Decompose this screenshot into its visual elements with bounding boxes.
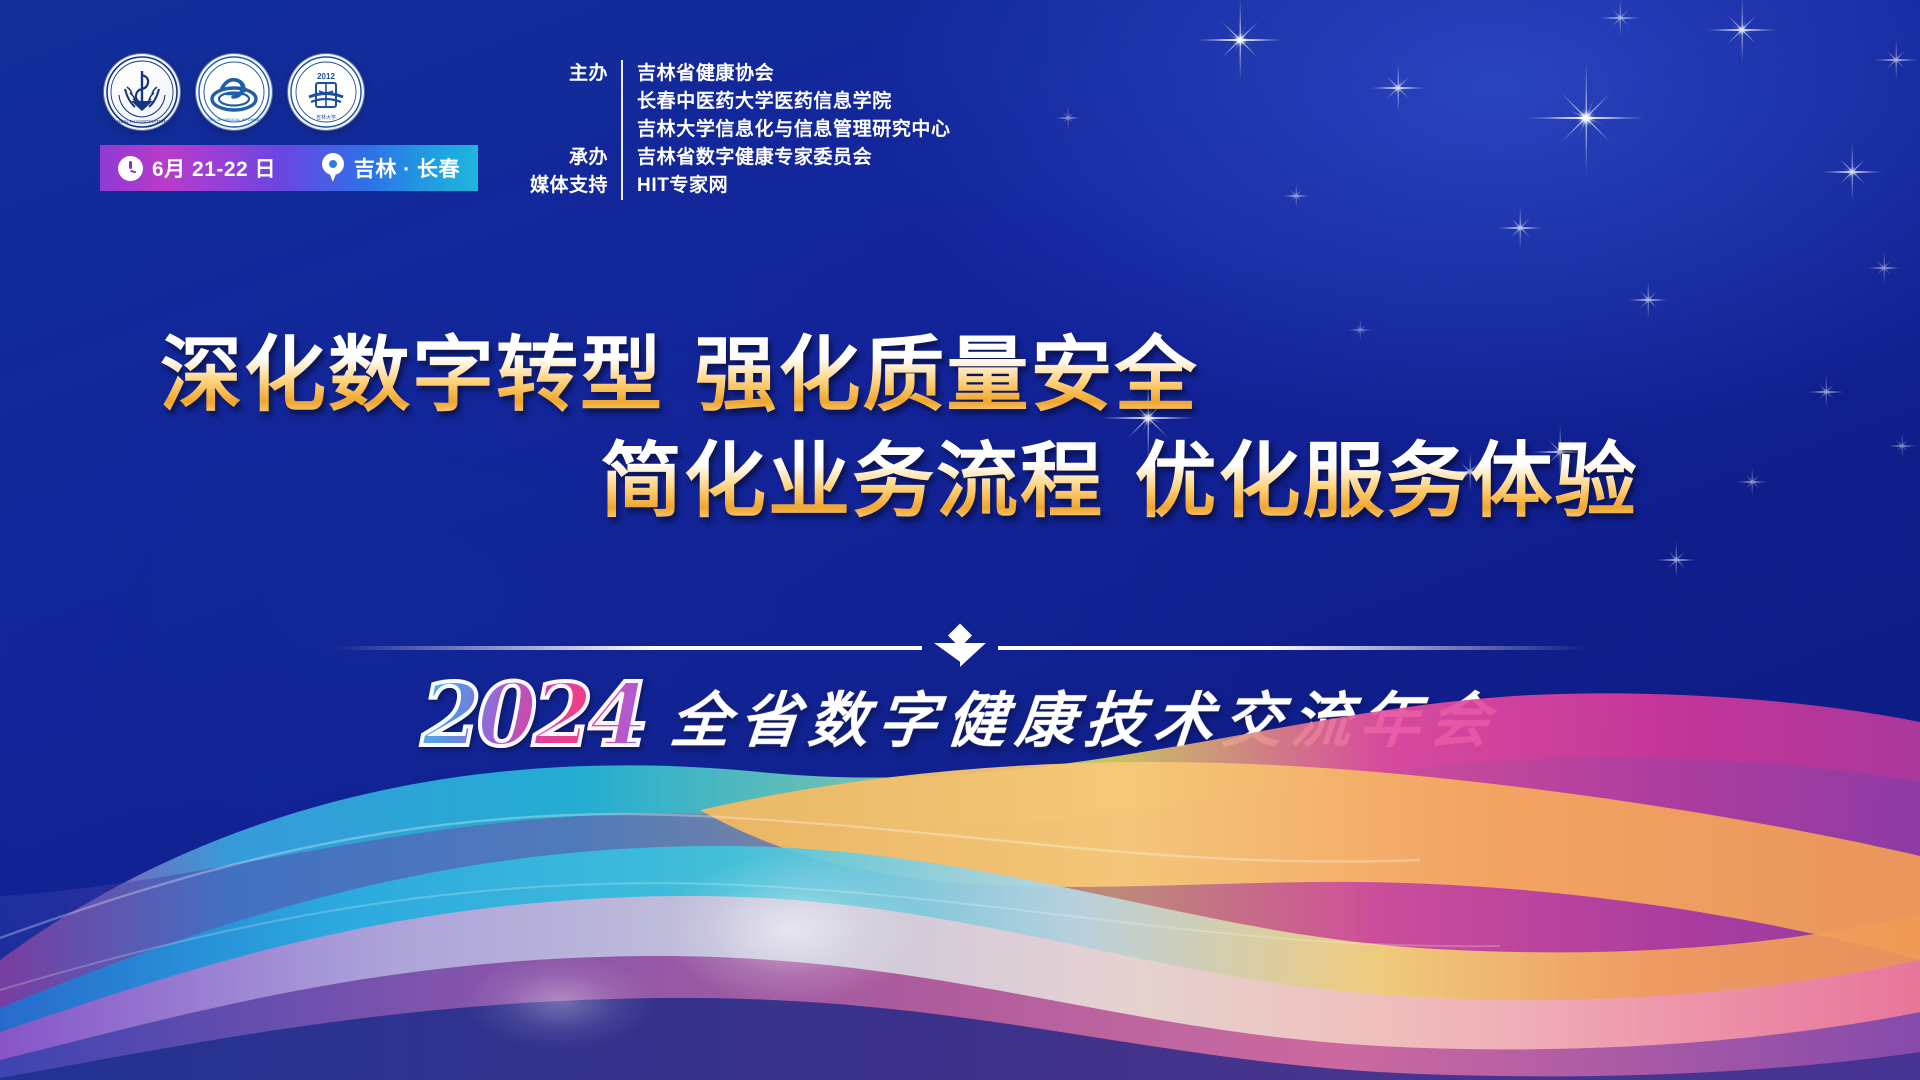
logo-jilin-university-research-center: 2012 吉林大学 bbox=[288, 54, 364, 130]
headline-block: 深化数字转型 强化质量安全 简化业务流程 优化服务体验 bbox=[0, 330, 1920, 528]
divider-bar-left bbox=[332, 646, 922, 650]
divider-bar-right bbox=[998, 646, 1588, 650]
credit-label-host: 主办 bbox=[530, 60, 621, 88]
svg-text:吉林大学: 吉林大学 bbox=[316, 114, 336, 121]
credit-label-media: 媒体支持 bbox=[530, 172, 621, 200]
credit-label-organizer: 承办 bbox=[530, 144, 621, 172]
logo-jilin-health-association: HEALTH ASSOCIATION bbox=[104, 54, 180, 130]
map-pin-icon bbox=[321, 153, 345, 183]
credit-values-organizer: 吉林省数字健康专家委员会 bbox=[621, 144, 951, 172]
credit-row: 吉林省数字健康专家委员会 bbox=[637, 144, 951, 172]
credit-row: 吉林大学信息化与信息管理研究中心 bbox=[637, 116, 951, 144]
event-meta-bar: 6月 21-22 日 吉林 · 长春 bbox=[100, 145, 478, 191]
logo-changchun-university-medicine: SCHOOL OF MEDICAL INFORMATION bbox=[196, 54, 272, 130]
event-date-text: 6月 21-22 日 bbox=[152, 153, 276, 183]
credit-values-media: HIT专家网 bbox=[621, 172, 951, 200]
headline-line-1: 深化数字转型 强化质量安全 bbox=[0, 330, 1920, 422]
credit-row: 吉林省健康协会 bbox=[637, 60, 951, 88]
credit-row: HIT专家网 bbox=[637, 172, 951, 200]
svg-text:SCHOOL OF MEDICAL INFORMATION: SCHOOL OF MEDICAL INFORMATION bbox=[199, 117, 268, 122]
conference-banner: HEALTH ASSOCIATION SCHOOL OF MEDICAL INF… bbox=[0, 0, 1920, 1080]
credit-values-host: 吉林省健康协会 长春中医药大学医药信息学院 吉林大学信息化与信息管理研究中心 bbox=[621, 60, 951, 144]
clock-icon bbox=[118, 156, 143, 181]
organizer-logo-group: HEALTH ASSOCIATION SCHOOL OF MEDICAL INF… bbox=[104, 54, 364, 130]
event-location: 吉林 · 长春 bbox=[321, 153, 460, 183]
headline-line-2: 简化业务流程 优化服务体验 bbox=[0, 436, 1920, 528]
svg-text:2012: 2012 bbox=[317, 72, 335, 81]
svg-text:HEALTH ASSOCIATION: HEALTH ASSOCIATION bbox=[117, 119, 167, 124]
event-location-text: 吉林 · 长春 bbox=[354, 153, 460, 183]
credit-row: 长春中医药大学医药信息学院 bbox=[637, 88, 951, 116]
ribbon-wave-decoration bbox=[0, 660, 1920, 1080]
event-date: 6月 21-22 日 bbox=[118, 153, 276, 183]
organizer-credits: 主办 吉林省健康协会 长春中医药大学医药信息学院 吉林大学信息化与信息管理研究中… bbox=[530, 60, 951, 200]
